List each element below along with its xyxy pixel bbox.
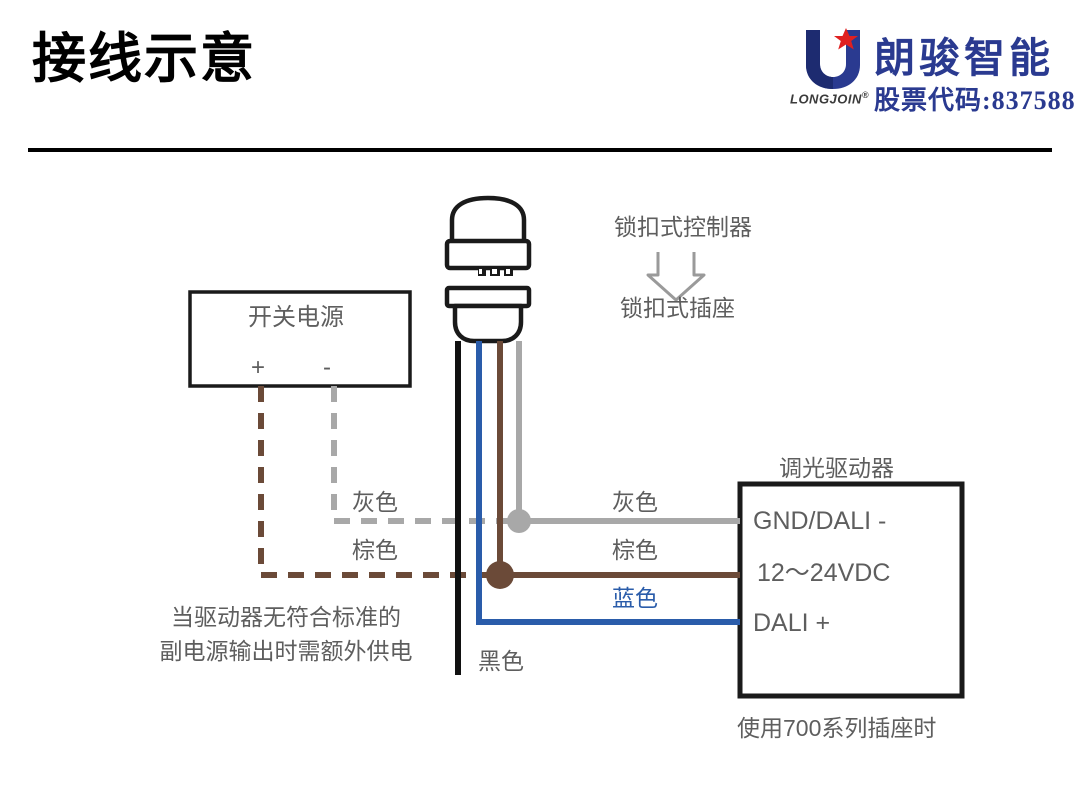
bottom-note: 使用700系列插座时	[737, 713, 936, 744]
left-note-line-1: 当驱动器无符合标准的	[126, 602, 446, 633]
wiring-diagram-page: 接线示意 朗骏智能 LONGJOIN® 股票代码:837588	[0, 0, 1080, 793]
wiring-diagram-canvas	[0, 0, 1080, 793]
left-note-line-2: 副电源输出时需额外供电	[126, 636, 446, 667]
locking-controller-device	[447, 198, 529, 276]
socket-label: 锁扣式插座	[620, 293, 735, 324]
wire-label-blue-right: 蓝色	[612, 583, 658, 614]
locking-socket-device	[447, 288, 529, 341]
wire-label-gray-left: 灰色	[352, 487, 398, 518]
wire-label-gray-right: 灰色	[612, 487, 658, 518]
wire-label-brown-left: 棕色	[352, 535, 398, 566]
power-supply-positive: +	[251, 352, 265, 384]
junction-dot-gray	[507, 509, 531, 533]
wire-label-black: 黑色	[478, 646, 524, 677]
controller-label: 锁扣式控制器	[614, 212, 752, 243]
driver-title: 调光驱动器	[779, 453, 894, 484]
junction-dot-brown	[486, 561, 514, 589]
driver-terminal-dali: DALI +	[753, 607, 830, 641]
driver-terminal-gnd: GND/DALI -	[753, 505, 886, 539]
power-supply-title: 开关电源	[248, 302, 344, 334]
power-supply-negative: -	[323, 352, 331, 384]
wire-label-brown-right: 棕色	[612, 535, 658, 566]
driver-terminal-vdc: 12〜24VDC	[757, 557, 890, 591]
